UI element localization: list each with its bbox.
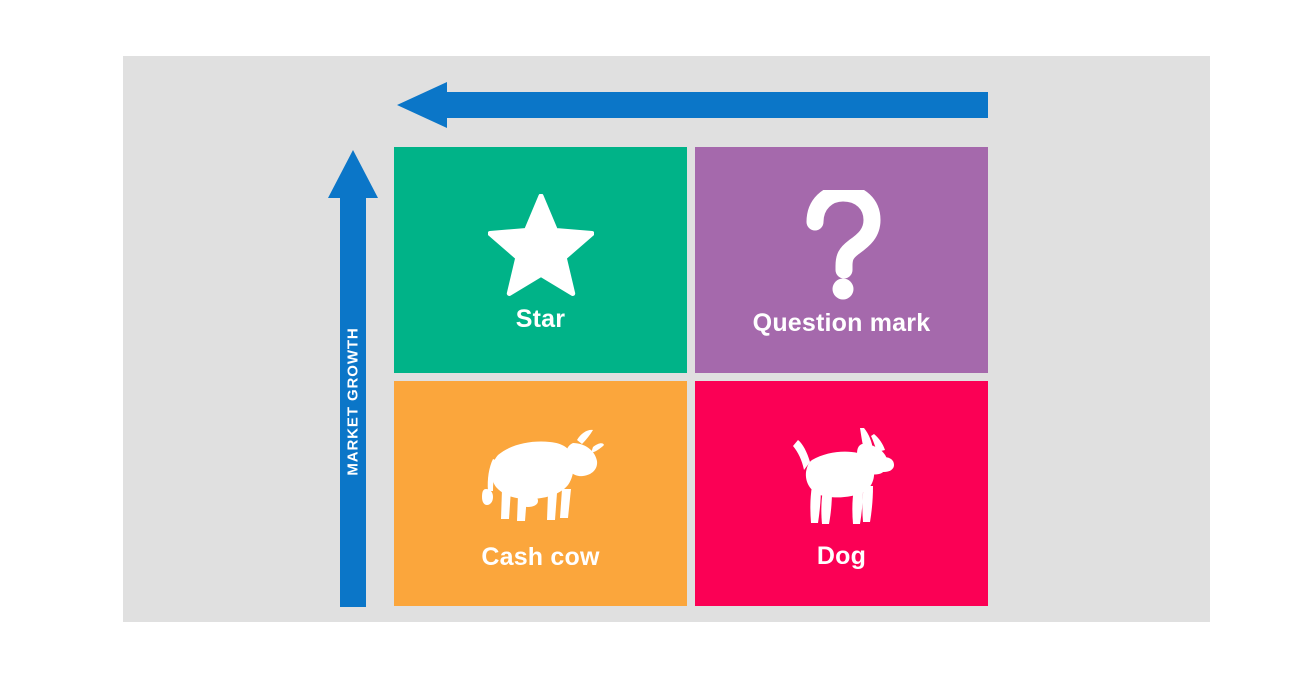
- quadrant-cash-cow[interactable]: Cash cow: [394, 381, 687, 606]
- star-icon: [488, 189, 594, 301]
- quadrant-cash-cow-label: Cash cow: [481, 545, 599, 570]
- quadrant-star[interactable]: Star: [394, 147, 687, 373]
- bcg-matrix-diagram: RELATIVE MARKET SHARE MARKET GROWTH Star: [0, 0, 1308, 684]
- quadrant-question-mark[interactable]: Question mark: [695, 147, 988, 373]
- relative-market-share-arrow: [397, 82, 988, 128]
- cow-icon: [478, 417, 604, 529]
- dog-icon: [790, 418, 894, 530]
- question-mark-icon: [803, 185, 881, 305]
- quadrant-question-mark-label: Question mark: [753, 311, 931, 336]
- quadrant-dog-label: Dog: [817, 544, 866, 569]
- matrix-grid: Star Question mark: [394, 147, 988, 606]
- relative-market-share-label: RELATIVE MARKET SHARE: [0, 0, 591, 46]
- quadrant-star-label: Star: [516, 307, 565, 332]
- market-growth-arrow: [328, 150, 378, 607]
- quadrant-dog[interactable]: Dog: [695, 381, 988, 606]
